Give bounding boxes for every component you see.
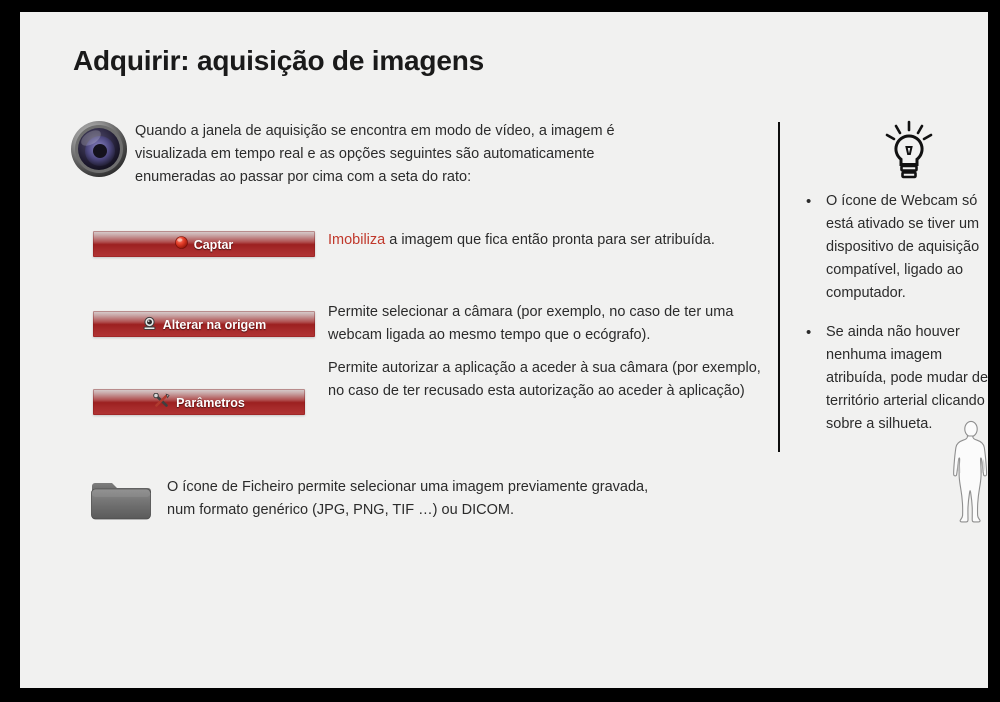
- lightbulb-icon: [882, 120, 936, 188]
- note-item: • O ícone de Webcam só está ativado se t…: [806, 190, 1000, 305]
- parametros-description: Permite autorizar a aplicação a aceder à…: [328, 357, 768, 403]
- captar-button-label: Captar: [194, 238, 234, 252]
- slide-canvas: Adquirir: aquisição de imagens: [20, 12, 988, 688]
- captar-button[interactable]: Captar: [93, 231, 315, 257]
- ficheiro-description: O ícone de Ficheiro permite selecionar u…: [167, 476, 667, 522]
- alterar-na-origem-button-label: Alterar na origem: [163, 318, 267, 332]
- notes-list: • O ícone de Webcam só está ativado se t…: [806, 190, 1000, 452]
- tools-icon: [153, 393, 170, 413]
- page-title: Adquirir: aquisição de imagens: [73, 45, 484, 77]
- intro-paragraph: Quando a janela de aquisição se encontra…: [135, 120, 640, 189]
- slide-frame: Adquirir: aquisição de imagens: [0, 0, 1000, 702]
- captar-description-text: a imagem que fica então pronta para ser …: [385, 232, 715, 248]
- parametros-button-label: Parâmetros: [176, 396, 245, 410]
- red-dot-icon: [175, 236, 188, 254]
- parametros-button[interactable]: Parâmetros: [93, 389, 305, 415]
- note-text: O ícone de Webcam só está ativado se tiv…: [826, 190, 1000, 305]
- webcam-icon: [142, 316, 157, 335]
- note-bullet-icon: •: [806, 190, 826, 213]
- captar-accent-word: Imobiliza: [328, 232, 385, 248]
- body-silhouette-icon[interactable]: [946, 419, 996, 527]
- alterar-description: Permite selecionar a câmara (por exemplo…: [328, 301, 768, 347]
- camera-lens-icon: [68, 117, 130, 179]
- vertical-divider: [778, 122, 780, 452]
- captar-description: Imobiliza a imagem que fica então pronta…: [328, 229, 778, 252]
- folder-icon: [90, 475, 152, 522]
- alterar-na-origem-button[interactable]: Alterar na origem: [93, 311, 315, 337]
- note-bullet-icon: •: [806, 321, 826, 344]
